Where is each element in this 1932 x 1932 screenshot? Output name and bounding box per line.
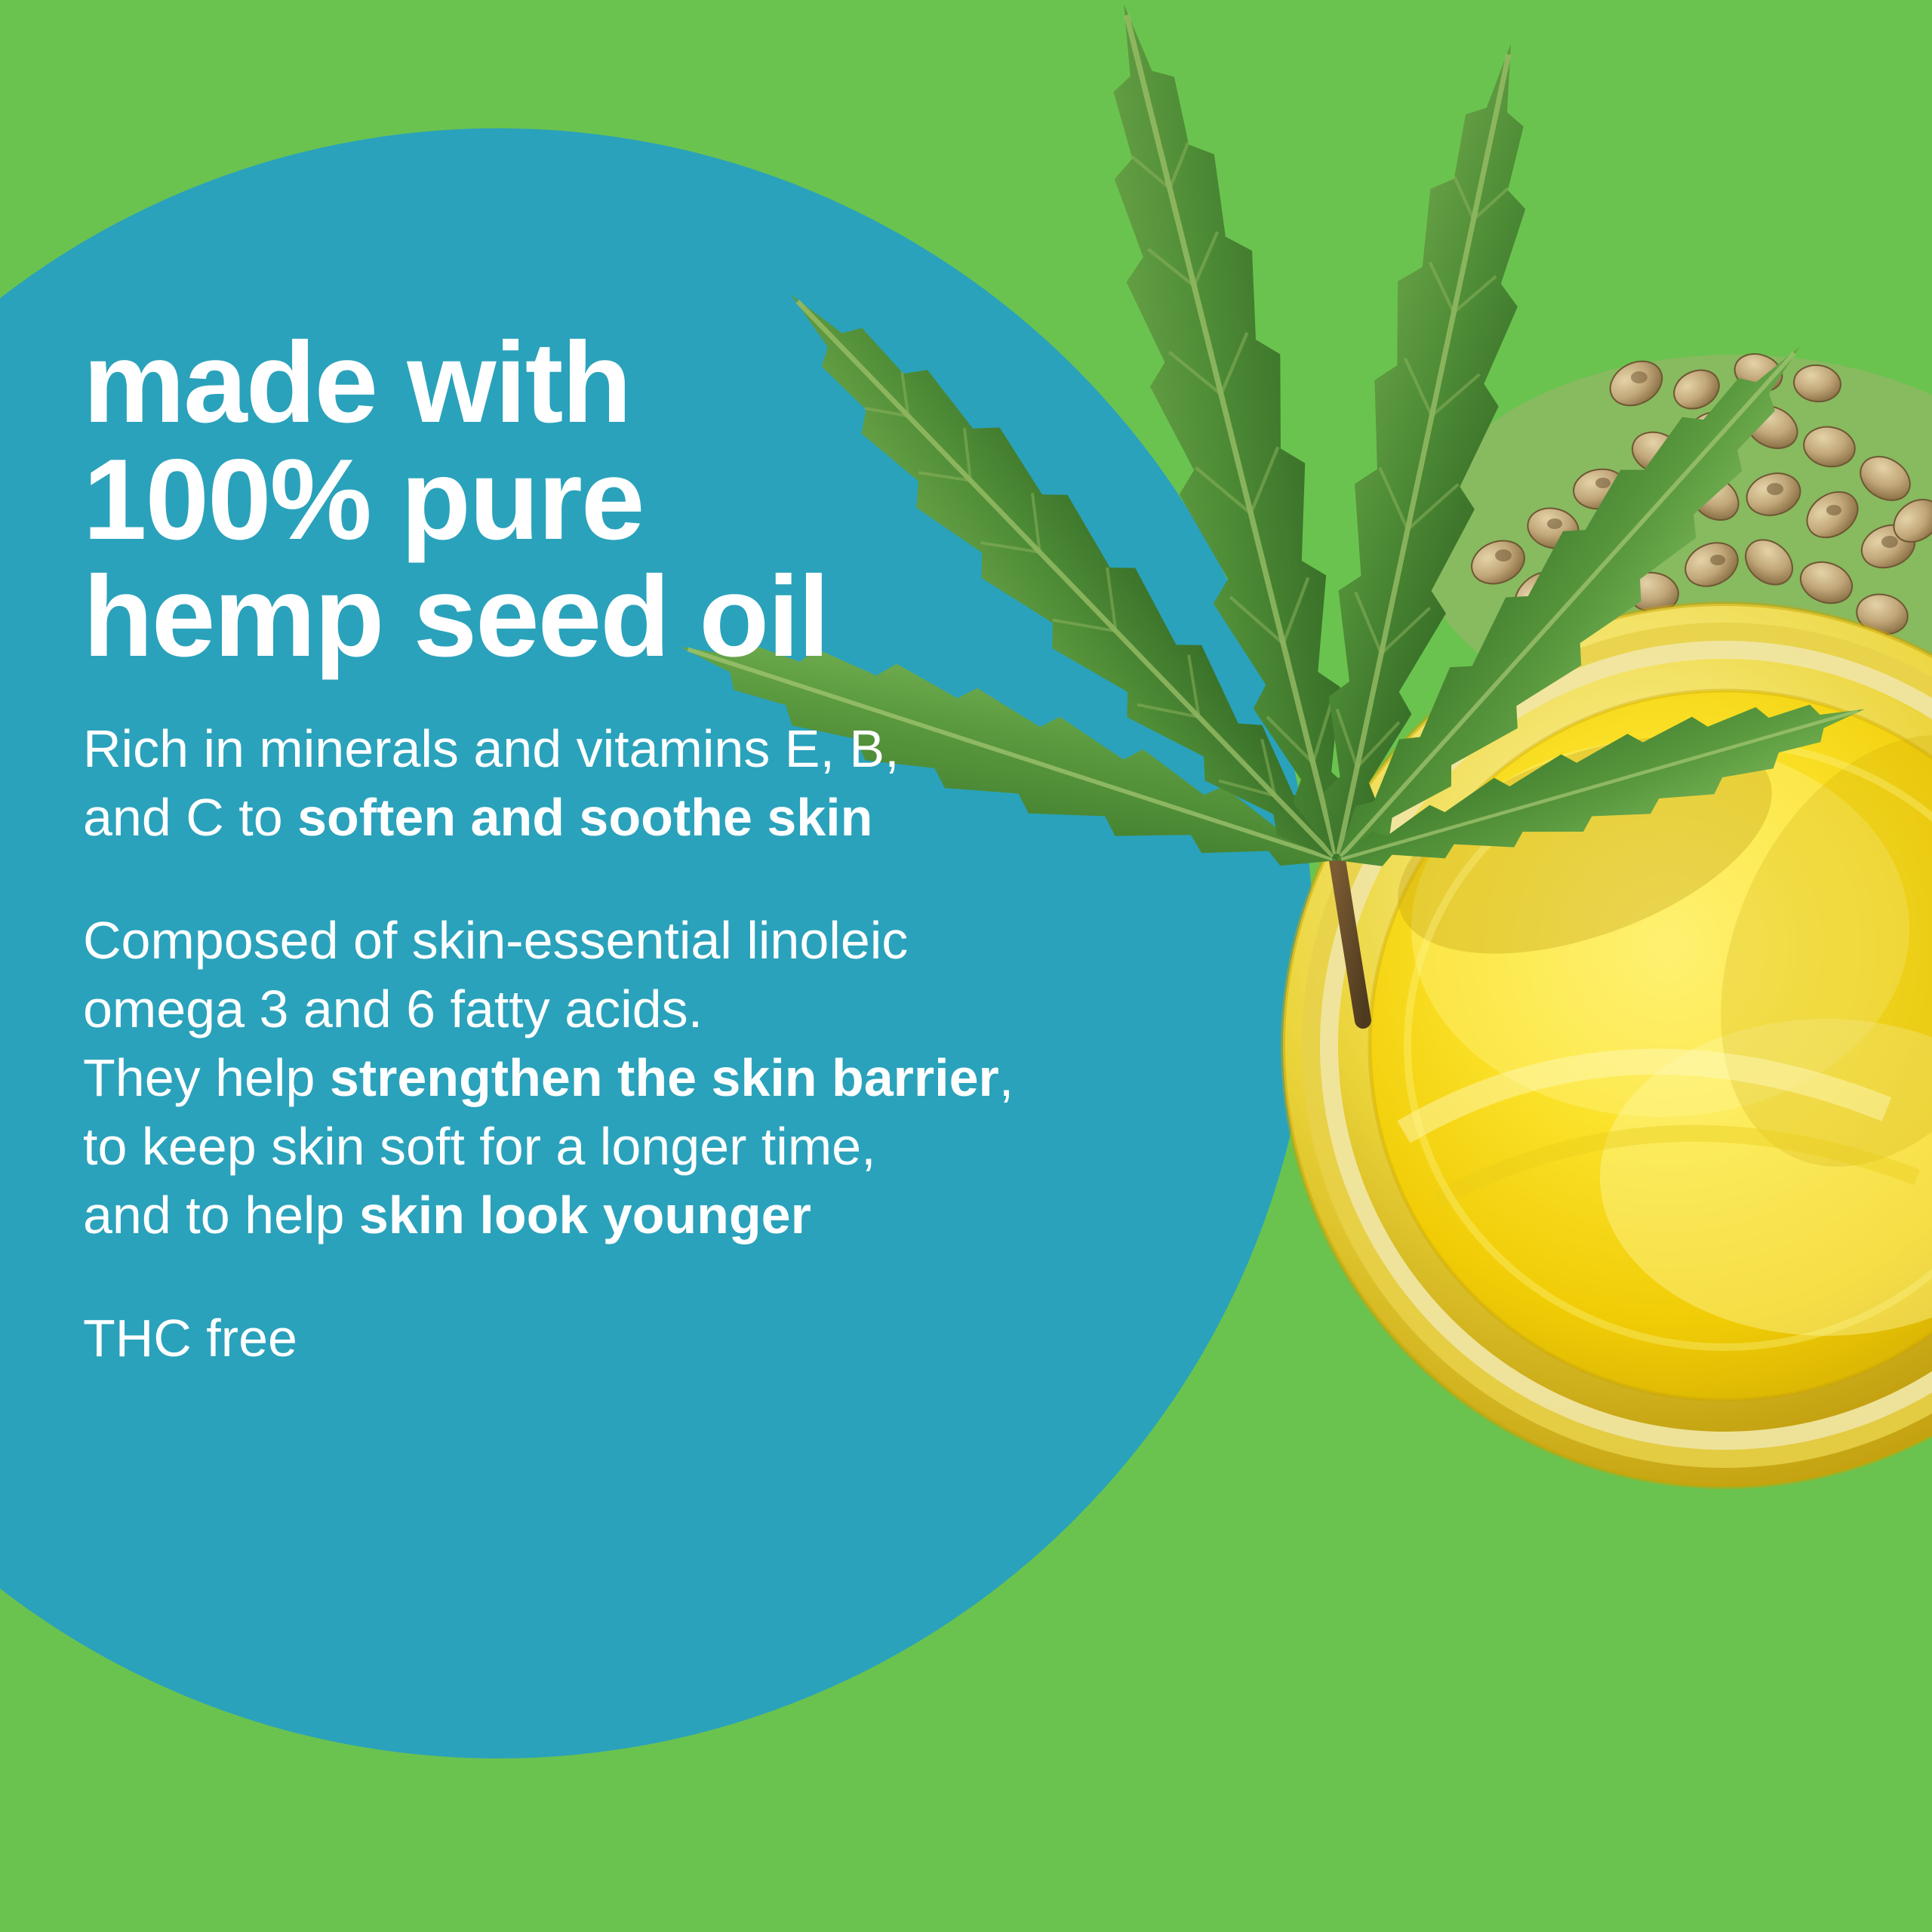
page-title: made with 100% pure hemp seed oil: [83, 325, 1260, 675]
thc-free-statement: THC free: [83, 1304, 1260, 1373]
benefit-2-highlight-a: strengthen the skin barrier: [330, 1048, 999, 1107]
copy-block: made with 100% pure hemp seed oil Rich i…: [83, 325, 1260, 1373]
benefit-1-highlight: soften and soothe skin: [297, 788, 872, 847]
benefit-paragraph-2: Composed of skin-essential linoleic omeg…: [83, 906, 1260, 1250]
benefit-2-highlight-b: skin look younger: [359, 1186, 811, 1244]
benefit-paragraph-1: Rich in minerals and vitamins E, B, and …: [83, 715, 1260, 852]
product-benefit-panel: made with 100% pure hemp seed oil Rich i…: [0, 0, 1932, 1932]
